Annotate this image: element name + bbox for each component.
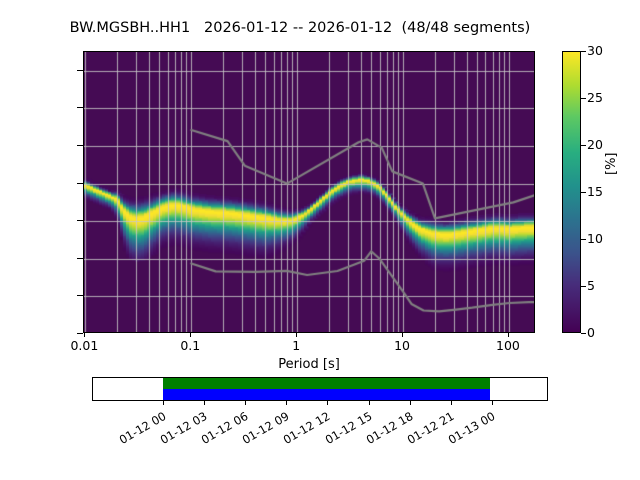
colorbar bbox=[562, 51, 581, 333]
colorbar-tick-mark bbox=[581, 98, 586, 99]
date-tick-mark bbox=[492, 401, 493, 405]
coverage-bar-blue bbox=[163, 389, 490, 400]
colorbar-tick-mark bbox=[581, 333, 586, 334]
y-tick-mark bbox=[77, 333, 83, 334]
x-tick-label: 0.1 bbox=[150, 338, 230, 353]
x-tick-label: 10 bbox=[362, 338, 442, 353]
colorbar-tick-label: 15 bbox=[587, 184, 603, 199]
coverage-bar-green bbox=[163, 378, 490, 389]
date-tick-mark bbox=[327, 401, 328, 405]
x-tick-label: 100 bbox=[468, 338, 548, 353]
colorbar-tick-label: 10 bbox=[587, 231, 603, 246]
x-tick-mark bbox=[402, 333, 403, 337]
plot-title: BW.MGSBH..HH1 2026-01-12 -- 2026-01-12 (… bbox=[0, 20, 600, 36]
x-tick-mark bbox=[190, 333, 191, 337]
x-tick-mark bbox=[84, 333, 85, 337]
date-tick-mark bbox=[451, 401, 452, 405]
y-tick-mark bbox=[77, 295, 83, 296]
x-tick-label: 0.01 bbox=[44, 338, 124, 353]
y-tick-mark bbox=[77, 220, 83, 221]
date-tick-mark bbox=[204, 401, 205, 405]
date-tick-mark bbox=[369, 401, 370, 405]
colorbar-tick-mark bbox=[581, 51, 586, 52]
colorbar-label: [%] bbox=[604, 153, 619, 176]
y-tick-mark bbox=[77, 145, 83, 146]
x-tick-mark bbox=[508, 333, 509, 337]
date-tick-mark bbox=[410, 401, 411, 405]
ppsd-axes[interactable] bbox=[83, 51, 535, 333]
y-tick-mark bbox=[77, 183, 83, 184]
date-tick-mark bbox=[163, 401, 164, 405]
colorbar-tick-mark bbox=[581, 286, 586, 287]
date-tick-mark bbox=[286, 401, 287, 405]
colorbar-tick-label: 20 bbox=[587, 137, 603, 152]
colorbar-tick-label: 25 bbox=[587, 90, 603, 105]
ppsd-figure: BW.MGSBH..HH1 2026-01-12 -- 2026-01-12 (… bbox=[0, 0, 640, 480]
colorbar-tick-label: 0 bbox=[587, 325, 595, 340]
x-axis-label: Period [s] bbox=[83, 357, 535, 372]
date-tick-mark bbox=[245, 401, 246, 405]
colorbar-tick-mark bbox=[581, 192, 586, 193]
y-tick-mark bbox=[77, 258, 83, 259]
colorbar-tick-mark bbox=[581, 145, 586, 146]
coverage-axes[interactable] bbox=[92, 377, 548, 401]
ppsd-histogram bbox=[84, 52, 535, 333]
colorbar-tick-label: 30 bbox=[587, 43, 603, 58]
colorbar-tick-label: 5 bbox=[587, 278, 595, 293]
y-tick-mark bbox=[77, 70, 83, 71]
colorbar-tick-mark bbox=[581, 239, 586, 240]
y-tick-mark bbox=[77, 107, 83, 108]
x-tick-label: 1 bbox=[256, 338, 336, 353]
x-tick-mark bbox=[296, 333, 297, 337]
